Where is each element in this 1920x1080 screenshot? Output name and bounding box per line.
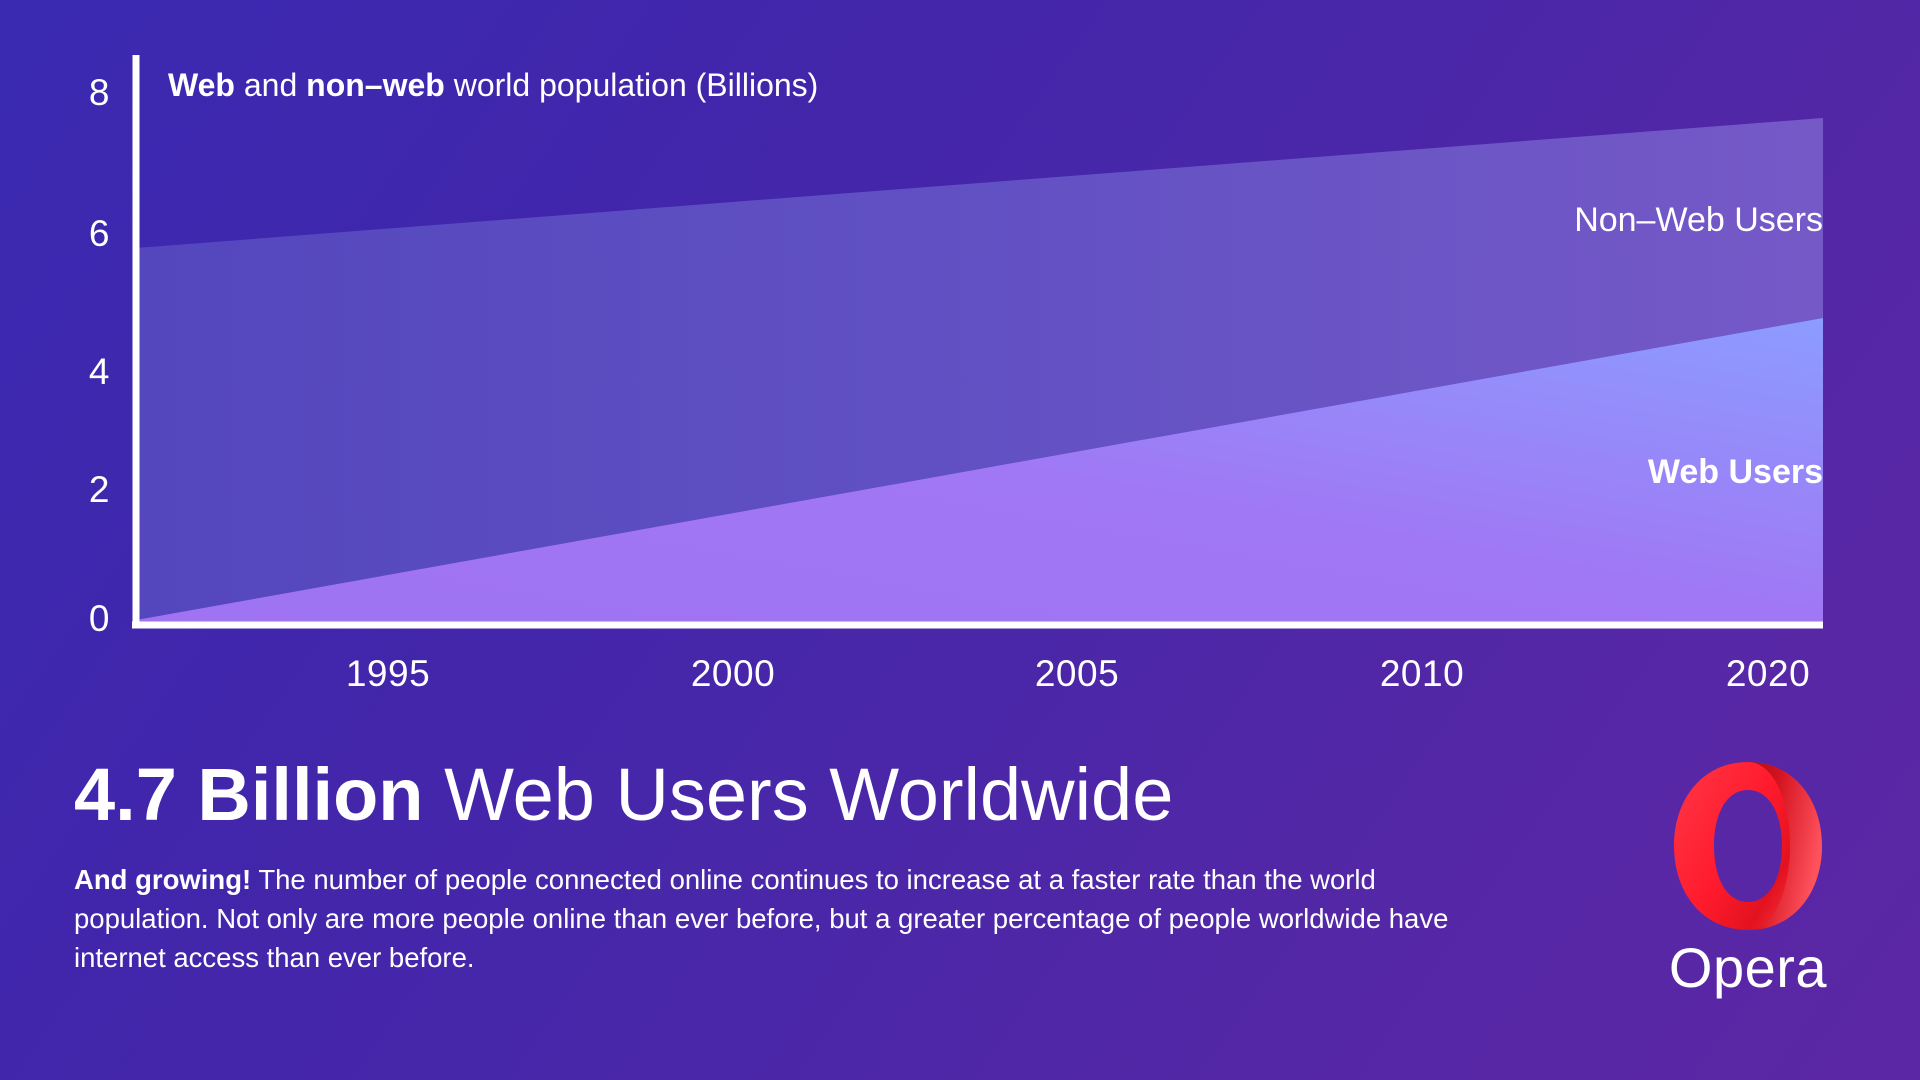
x-axis-labels: 1995 2000 2005 2010 2020 [0,0,1920,700]
x-tick-2000: 2000 [691,655,775,692]
body-text: The number of people connected online co… [74,864,1448,973]
x-tick-1995: 1995 [346,655,430,692]
x-tick-2005: 2005 [1035,655,1119,692]
x-tick-2010: 2010 [1380,655,1464,692]
opera-wordmark: Opera [1648,940,1848,996]
headline-figure: 4.7 Billion [74,753,424,836]
opera-logo: Opera [1648,758,1848,1028]
series-label-web-users: Web Users [1648,455,1823,489]
footer-text-block: 4.7 Billion Web Users Worldwide And grow… [74,756,1574,977]
headline-rest: Web Users Worldwide [424,753,1174,836]
x-tick-2020: 2020 [1726,655,1810,692]
infographic-canvas: Web and non–web world population (Billio… [0,0,1920,1080]
body-paragraph: And growing! The number of people connec… [74,860,1494,977]
body-lead: And growing! [74,864,251,895]
chart-area: Web and non–web world population (Billio… [0,0,1920,700]
headline: 4.7 Billion Web Users Worldwide [74,756,1574,834]
opera-o-icon [1660,758,1836,934]
series-label-non-web-users: Non–Web Users [1574,203,1823,237]
